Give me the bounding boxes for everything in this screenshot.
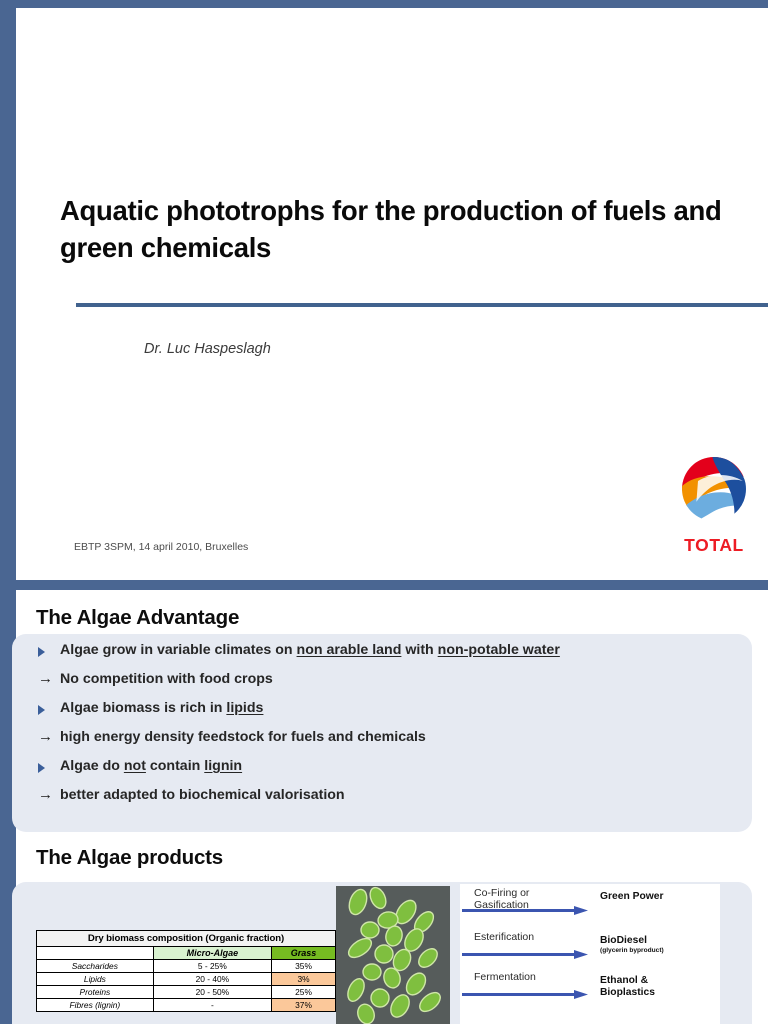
bullet-arrow-icon: → [38,671,60,687]
bullet-arrow-icon: → [38,787,60,803]
advantage-bullet-0: Algae grow in variable climates on non a… [38,642,738,671]
advantage-bullet-text: Algae grow in variable climates on non a… [60,642,560,658]
table-cell-grass: 37% [272,999,336,1012]
arrow-glyph: → [38,728,53,745]
total-globe-icon [674,449,754,529]
table-cell-micro: 20 - 40% [153,973,271,986]
triangle-glyph [38,647,45,657]
flow-arrow-icon-2 [462,986,590,995]
flow-product-label-2: Ethanol &Bioplastics [600,975,655,998]
table-header-grass: Grass [272,947,336,960]
table-cell-grass: 35% [272,960,336,973]
slide-title: Aquatic phototrophs for the production o… [16,8,768,580]
table-row: Fibres (lignin)-37% [37,999,336,1012]
table-row: Lipids20 - 40%3% [37,973,336,986]
flow-arrow-icon-0 [462,902,590,911]
advantage-bullet-4: Algae do not contain lignin [38,758,738,787]
table-cell-micro: 5 - 25% [153,960,271,973]
bullet-arrow-icon: → [38,729,60,745]
bullet-triangle-icon [38,700,60,719]
advantage-bullet-2: Algae biomass is rich in lipids [38,700,738,729]
flow-process-label-2: Fermentation [474,972,536,984]
micro-algae-photo [336,886,450,1024]
algae-conversion-flow-diagram: Co-Firing orGasificationGreen PowerEster… [460,884,720,1024]
flow-product-label-0: Green Power [600,891,664,903]
table-cell-grass: 25% [272,986,336,999]
section-heading-advantage: The Algae Advantage [36,606,239,630]
bullet-triangle-icon [38,758,60,777]
arrow-glyph: → [38,786,53,803]
table-cell-grass: 3% [272,973,336,986]
advantage-bullet-list: Algae grow in variable climates on non a… [38,642,738,816]
section-heading-products: The Algae products [36,846,223,870]
table-title: Dry biomass composition (Organic fractio… [37,931,336,947]
advantage-bullet-3: →high energy density feedstock for fuels… [38,729,738,758]
table-row: Saccharides5 - 25%35% [37,960,336,973]
table-cell-label: Saccharides [37,960,154,973]
title-block: Aquatic phototrophs for the production o… [60,193,740,266]
table-title-row: Dry biomass composition (Organic fractio… [37,931,336,947]
flow-product-label-1: BioDiesel(glycerin byproduct) [600,935,664,954]
total-logo: TOTAL [674,449,758,559]
advantage-bullet-1: →No competition with food crops [38,671,738,700]
table-header-blank [37,947,154,960]
arrow-glyph: → [38,670,53,687]
table-cell-micro: 20 - 50% [153,986,271,999]
table-cell-micro: - [153,999,271,1012]
advantage-bullet-text: better adapted to biochemical valorisati… [60,787,345,803]
biomass-composition-table: Dry biomass composition (Organic fractio… [36,930,336,1012]
advantage-bullet-text: Algae biomass is rich in lipids [60,700,263,716]
table-cell-label: Lipids [37,973,154,986]
flow-arrow-icon-1 [462,946,590,955]
slide-algae-advantage: The Algae Advantage Algae grow in variab… [16,590,768,1024]
table-cell-label: Proteins [37,986,154,999]
table-cell-label: Fibres (lignin) [37,999,154,1012]
total-wordmark: TOTAL [674,535,754,556]
advantage-bullet-text: high energy density feedstock for fuels … [60,729,426,745]
bullet-triangle-icon [38,642,60,661]
table-header-row: Micro-AlgaeGrass [37,947,336,960]
triangle-glyph [38,763,45,773]
triangle-glyph [38,705,45,715]
advantage-bullet-5: →better adapted to biochemical valorisat… [38,787,738,816]
event-footer: EBTP 3SPM, 14 april 2010, Bruxelles [74,541,248,553]
algae-cells-image [336,886,450,1024]
author-name: Dr. Luc Haspeslagh [144,341,271,357]
flow-process-label-1: Esterification [474,932,534,944]
advantage-bullet-text: No competition with food crops [60,671,273,687]
page-title: Aquatic phototrophs for the production o… [60,193,740,266]
title-divider [76,303,768,307]
advantage-bullet-text: Algae do not contain lignin [60,758,242,774]
table-row: Proteins20 - 50%25% [37,986,336,999]
table-header-micro-algae: Micro-Algae [153,947,271,960]
presentation-page: Aquatic phototrophs for the production o… [0,0,768,1024]
